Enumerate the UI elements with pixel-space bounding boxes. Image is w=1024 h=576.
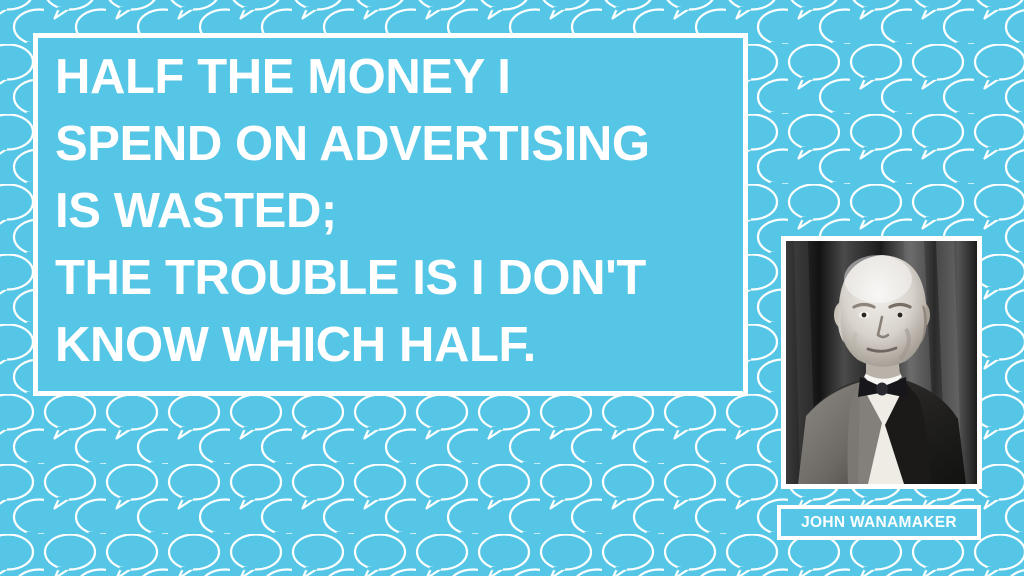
attribution-name: JOHN WANAMAKER: [801, 514, 957, 532]
attribution-box: JOHN WANAMAKER: [777, 505, 981, 540]
quote-panel: HALF THE MONEY I SPEND ON ADVERTISING IS…: [33, 33, 748, 396]
portrait-photo: [786, 241, 977, 484]
quote-card: HALF THE MONEY I SPEND ON ADVERTISING IS…: [0, 0, 1024, 576]
quote-text: HALF THE MONEY I SPEND ON ADVERTISING IS…: [55, 44, 737, 379]
portrait-frame: [781, 236, 982, 489]
